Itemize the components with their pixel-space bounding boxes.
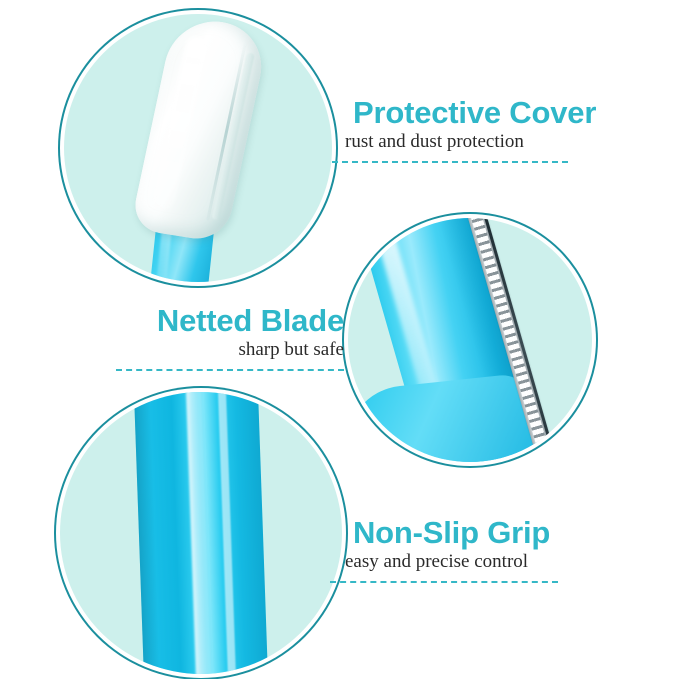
photo-non-slip-grip: [60, 392, 342, 674]
razor-neck: [348, 372, 542, 462]
handle-shaft-shape: [134, 392, 269, 674]
feature-subtitle-protective-cover: rust and dust protection: [345, 130, 579, 154]
product-photo-protective-cover: [64, 14, 332, 282]
cap-highlight: [151, 35, 209, 211]
caption-non-slip-grip: Non-Slip Grip easy and precise control: [353, 516, 585, 583]
shaft-highlight-narrow: [218, 392, 237, 674]
caption-netted-blade: Netted Blade sharp but safe: [112, 304, 344, 371]
product-photo-netted-blade: [348, 218, 592, 462]
caption-protective-cover: Protective Cover rust and dust protectio…: [353, 96, 579, 163]
photo-netted-blade: [348, 218, 592, 462]
feature-title-non-slip-grip: Non-Slip Grip: [353, 516, 585, 550]
photo-protective-cover: [64, 14, 332, 282]
shaft-highlight-wide: [186, 392, 213, 674]
feature-title-netted-blade: Netted Blade: [112, 304, 344, 338]
product-photo-non-slip-grip: [60, 392, 342, 674]
infographic-canvas: Protective Cover rust and dust protectio…: [0, 0, 679, 679]
shaft-left-shadow: [134, 392, 161, 674]
caption-dashed-rule: [330, 581, 558, 583]
cap-side-panel: [212, 52, 255, 220]
cap-seam-line: [206, 42, 247, 221]
protective-cap-shape: [130, 15, 270, 244]
feature-title-protective-cover: Protective Cover: [353, 96, 579, 130]
caption-dashed-rule: [116, 369, 344, 371]
feature-subtitle-netted-blade: sharp but safe: [112, 338, 344, 362]
caption-dashed-rule: [332, 161, 568, 163]
feature-subtitle-non-slip-grip: easy and precise control: [345, 550, 585, 574]
